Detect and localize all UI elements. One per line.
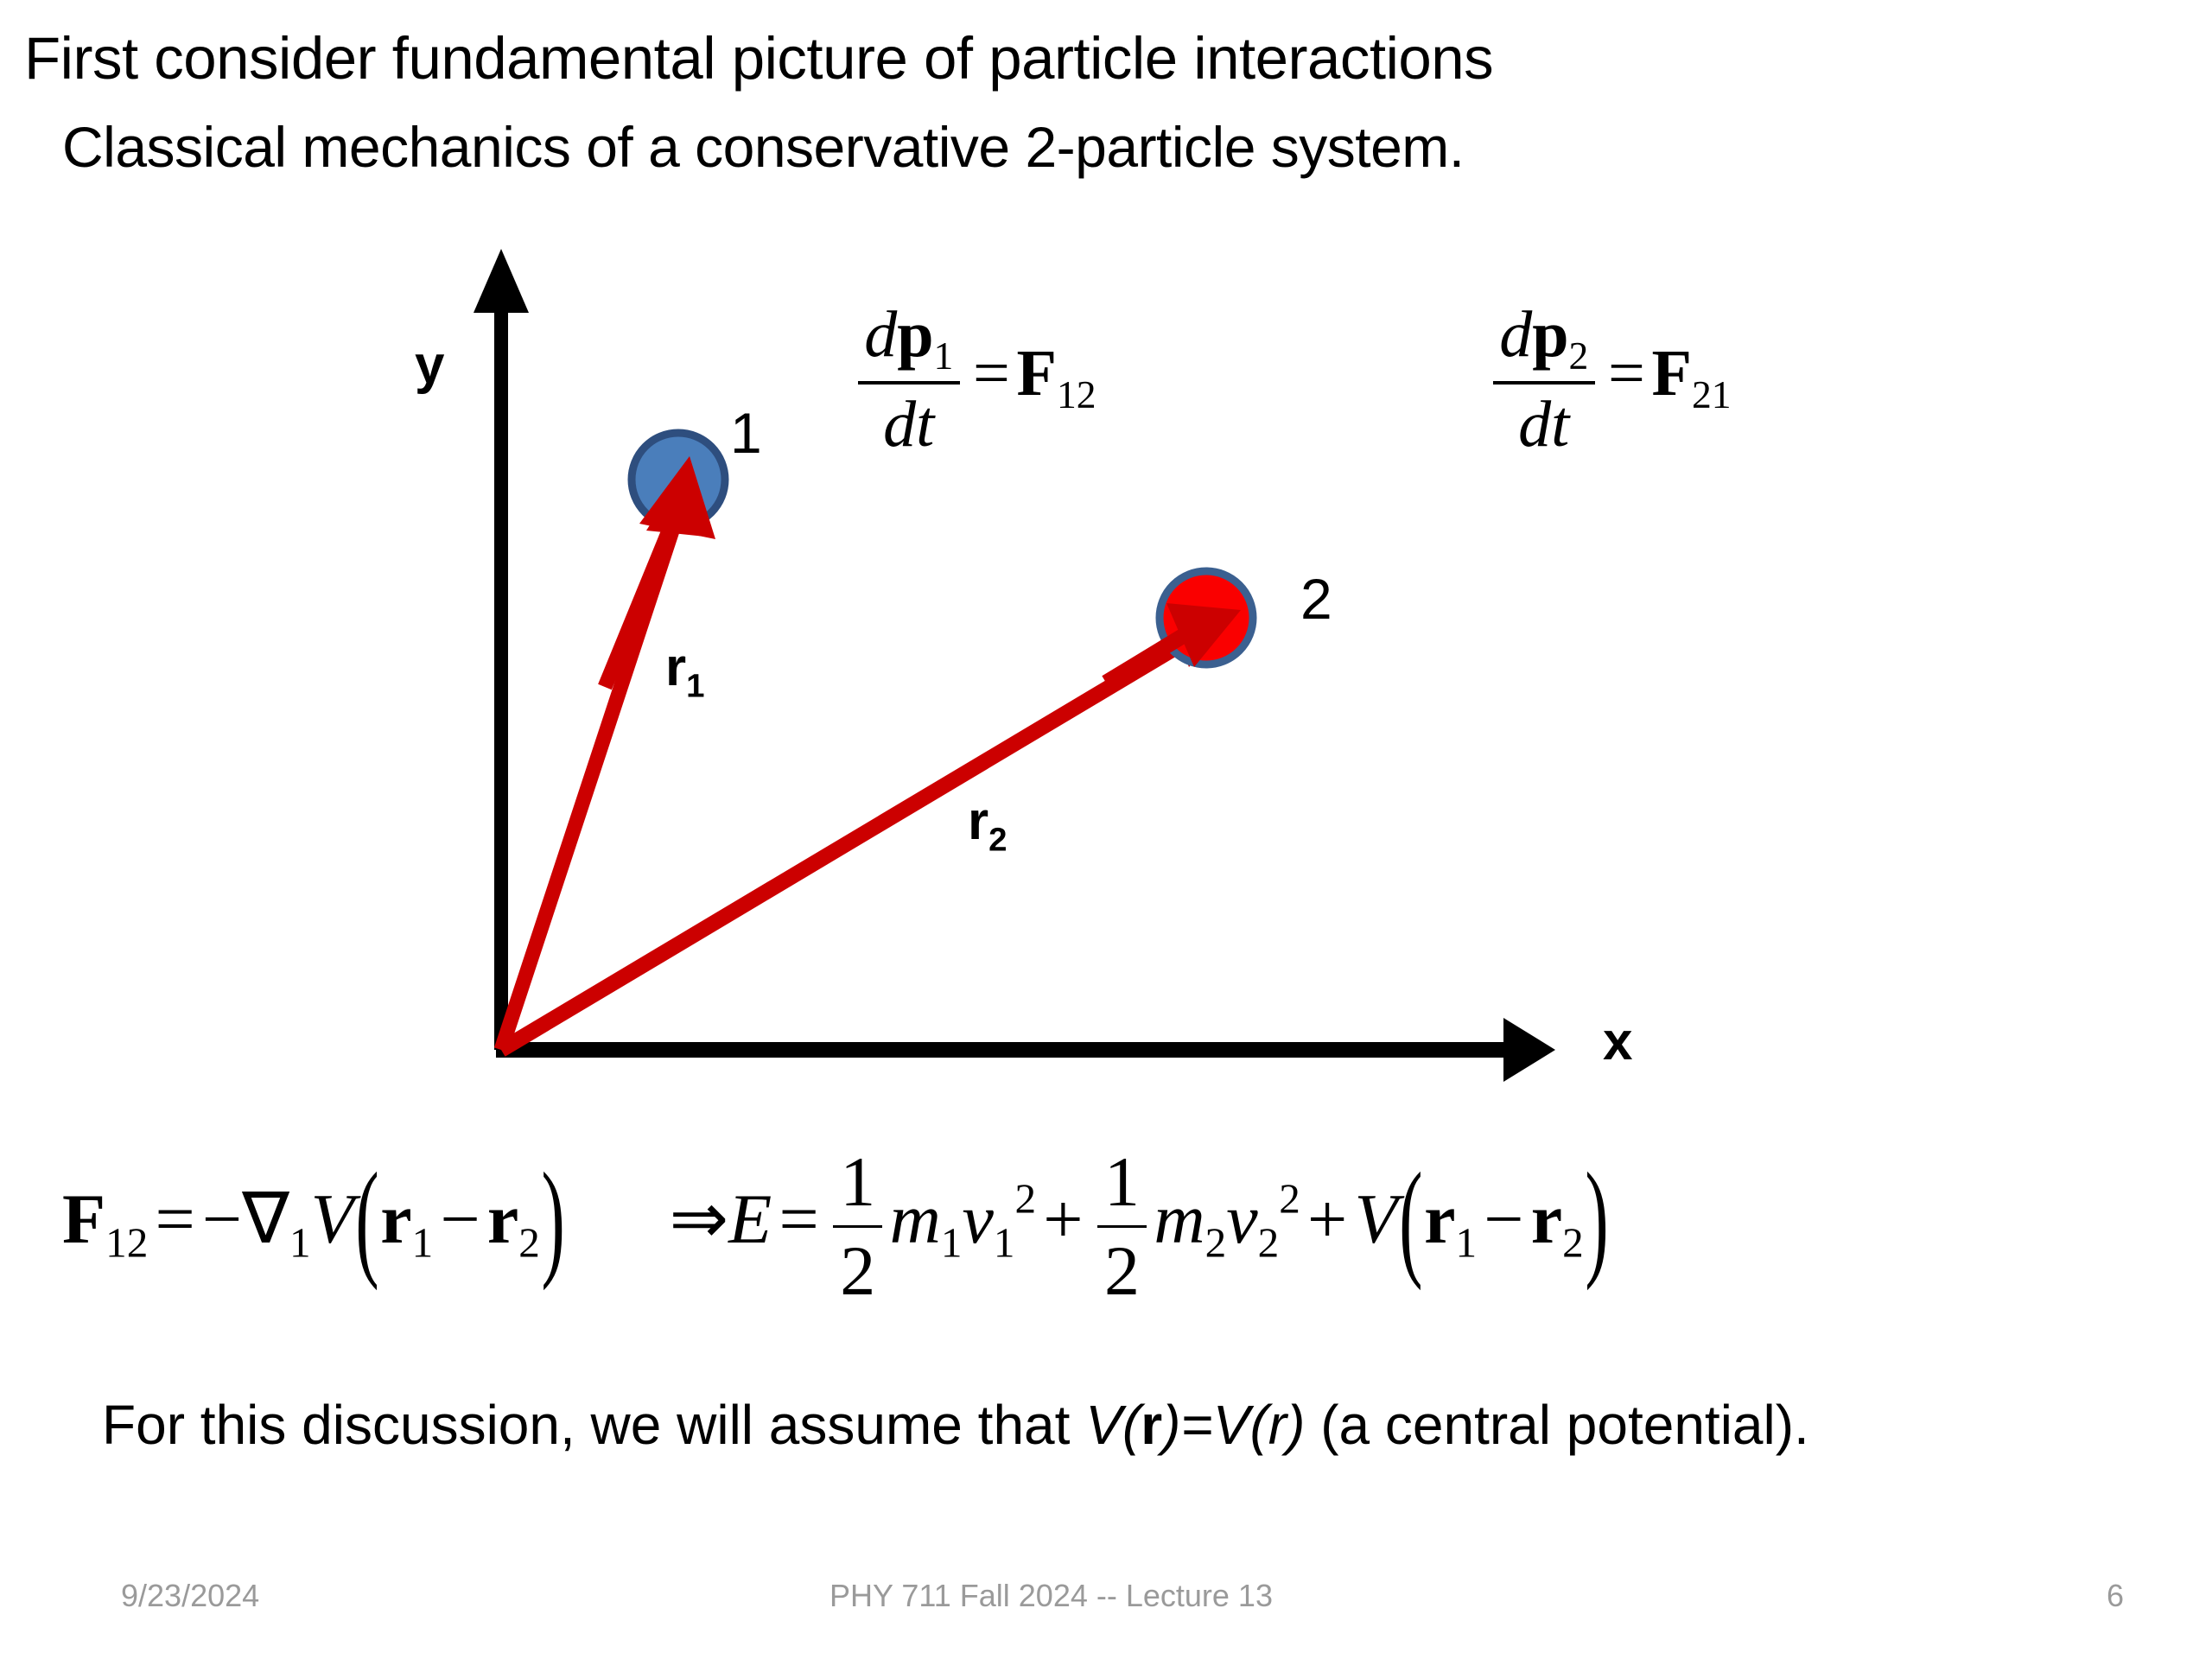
fraction-numerator: 1 <box>833 1142 882 1222</box>
momentum-subscript: 2 <box>1568 334 1588 378</box>
equation-momentum-particle-2: dp2 dt =F21 <box>1486 298 1732 461</box>
position-vector-bold-r: r <box>1141 1394 1162 1456</box>
equals-sign: = <box>966 337 1016 410</box>
position-vector-r: r <box>1424 1179 1455 1258</box>
velocity-exponent: 2 <box>1279 1175 1300 1223</box>
position-vector-r: r <box>380 1179 411 1258</box>
mass-subscript: 1 <box>941 1218 963 1266</box>
minus-sign: − <box>433 1179 487 1258</box>
nabla-icon: ∇ <box>242 1179 289 1258</box>
plus-sign: + <box>1036 1179 1090 1258</box>
fraction-numerator: dp1 <box>858 298 960 378</box>
minus-sign: − <box>1477 1179 1531 1258</box>
position-subscript: 2 <box>1562 1218 1584 1266</box>
particle-1-label: 1 <box>730 404 762 461</box>
force-subscript: 12 <box>1057 372 1096 416</box>
energy-symbol: E <box>728 1179 772 1258</box>
position-subscript: 2 <box>518 1218 540 1266</box>
vector-r1-subscript: 1 <box>686 667 704 704</box>
slide-canvas: First consider fundamental picture of pa… <box>0 0 2212 1659</box>
fraction-bar <box>1493 381 1595 385</box>
y-axis-label: y <box>415 339 444 392</box>
position-subscript: 1 <box>412 1218 434 1266</box>
paren-close: ) <box>540 1154 567 1285</box>
footer-page-number: 6 <box>2107 1578 2124 1614</box>
fraction-denominator: dt <box>1493 388 1595 461</box>
momentum-vector-p: p <box>1532 298 1568 371</box>
momentum-vector-p: p <box>897 298 933 371</box>
fraction-dp1-dt: dp1 dt <box>858 298 960 461</box>
x-axis-label: x <box>1603 1015 1632 1069</box>
slide-footer: 9/23/2024 PHY 711 Fall 2024 -- Lecture 1… <box>0 1578 2212 1630</box>
fraction-bar <box>833 1225 882 1228</box>
assumption-prefix: For this discussion, we will assume that <box>102 1394 1085 1456</box>
position-vector-r: r <box>487 1179 518 1258</box>
vector-r2-symbol: r <box>968 791 988 851</box>
force-symbol: F <box>1652 337 1692 410</box>
vector-r2-subscript: 2 <box>988 821 1007 858</box>
fraction-denominator: dt <box>858 388 960 461</box>
differential-d: d <box>1499 298 1532 371</box>
potential-symbol: V <box>311 1179 354 1258</box>
equals-sign: = <box>1601 337 1651 410</box>
particle-2-label: 2 <box>1300 570 1332 627</box>
paren-open: ( <box>1398 1154 1425 1285</box>
equals-sign: = <box>148 1179 202 1258</box>
vector-r2-label: r2 <box>968 795 1007 857</box>
vector-r1-symbol: r <box>665 638 686 697</box>
x-axis <box>496 1018 1555 1082</box>
fraction-numerator: 1 <box>1097 1142 1147 1222</box>
paren-close: ) <box>1584 1154 1611 1285</box>
mass-subscript: 2 <box>1205 1218 1227 1266</box>
velocity-symbol: v <box>1226 1179 1257 1258</box>
assumption-suffix: (a central potential). <box>1305 1394 1808 1456</box>
velocity-subscript: 1 <box>994 1218 1015 1266</box>
y-axis <box>474 249 529 1050</box>
vector-r1-label: r1 <box>665 641 705 703</box>
velocity-subscript: 2 <box>1258 1218 1280 1266</box>
mass-symbol: m <box>1154 1179 1205 1258</box>
plus-sign: + <box>1300 1179 1355 1258</box>
fraction-dp2-dt: dp2 dt <box>1493 298 1595 461</box>
force-subscript: 12 <box>105 1218 148 1266</box>
velocity-symbol: v <box>962 1179 993 1258</box>
paren-open: ( <box>354 1154 381 1285</box>
fraction-one-half: 1 2 <box>833 1142 882 1311</box>
position-vector-r: r <box>1531 1179 1562 1258</box>
momentum-subscript: 1 <box>933 334 953 378</box>
mass-symbol: m <box>890 1179 941 1258</box>
assumption-paragraph: For this discussion, we will assume that… <box>102 1391 2115 1459</box>
force-symbol: F <box>62 1179 105 1258</box>
potential-of-vector-open: V( <box>1085 1394 1141 1456</box>
force-subscript: 21 <box>1692 372 1732 416</box>
footer-date: 9/23/2024 <box>121 1578 259 1614</box>
fraction-denominator: 2 <box>833 1231 882 1311</box>
potential-equality: )=V(r) <box>1162 1394 1305 1456</box>
fraction-bar <box>858 381 960 385</box>
equals-sign: = <box>772 1179 826 1258</box>
fraction-numerator: dp2 <box>1493 298 1595 378</box>
equation-momentum-particle-1: dp1 dt =F12 <box>851 298 1096 461</box>
equation-force-and-energy: F12=−∇1V(r1−r2) ⇒E= 1 2 m1v12+ 1 2 m2v22… <box>62 1142 1610 1311</box>
vector-r1 <box>501 467 714 1050</box>
differential-d: d <box>864 298 897 371</box>
nabla-subscript: 1 <box>289 1218 311 1266</box>
potential-symbol: V <box>1354 1179 1397 1258</box>
fraction-one-half: 1 2 <box>1097 1142 1147 1311</box>
footer-course-label: PHY 711 Fall 2024 -- Lecture 13 <box>829 1578 1273 1614</box>
velocity-exponent: 2 <box>1014 1175 1036 1223</box>
implies-icon: ⇒ <box>669 1179 728 1258</box>
minus-sign: − <box>202 1179 242 1258</box>
position-subscript: 1 <box>1456 1218 1478 1266</box>
fraction-denominator: 2 <box>1097 1231 1147 1311</box>
fraction-bar <box>1097 1225 1147 1228</box>
force-symbol: F <box>1017 337 1057 410</box>
